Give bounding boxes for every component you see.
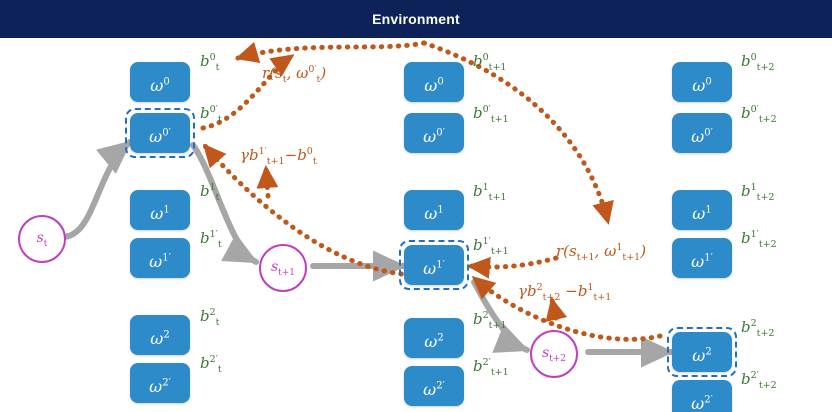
omega-box-t-1[interactable]: ω1 [130,190,190,230]
arrow-td-t-label-stub [266,168,268,196]
omega-box-t1-1[interactable]: ω1 [404,190,464,230]
b-label-t2-1prime: b1′t+2 [741,229,777,250]
b-label-t2-2prime: b2′t+2 [741,370,777,391]
state-circle-label: st+1 [271,259,295,278]
arrow-st-to-w0prime [63,142,130,237]
omega-box-t-0[interactable]: ω0 [130,62,190,102]
state-circle-label: st [37,230,48,249]
omega-box-label: ω1′ [691,252,713,271]
omega-box-label: ω0 [150,76,169,95]
formula-td-error-t: γb1′t+1−b0t [240,146,317,167]
state-circle-label: st+2 [542,345,566,364]
omega-box-t2-2[interactable]: ω2 [672,332,732,372]
b-label-t-1prime: b1′t [200,229,222,250]
b-label-t-0: b0t [200,52,219,73]
b-label-t-0prime: b0′t [200,104,222,125]
state-circle-t1[interactable]: st+1 [259,244,307,292]
b-label-t2-2: b2t+2 [741,318,774,339]
omega-box-t-2prime[interactable]: ω2′ [130,363,190,403]
environment-bar-label: Environment [0,0,832,38]
omega-box-label: ω2′ [423,380,445,399]
b-label-t1-2: b2t+1 [473,310,506,331]
b-label-t1-1: b1t+1 [473,182,506,203]
omega-box-label: ω0 [424,76,443,95]
omega-box-t2-1[interactable]: ω1 [672,190,732,230]
omega-box-label: ω0′ [149,127,171,146]
omega-box-label: ω1 [150,204,169,223]
omega-box-t2-1prime[interactable]: ω1′ [672,238,732,278]
omega-box-label: ω2′ [149,377,171,396]
omega-box-label: ω0′ [423,127,445,146]
b-label-t2-0: b0t+2 [741,52,774,73]
state-circle-t2[interactable]: st+2 [530,330,578,378]
b-label-t-2prime: b2′t [200,354,222,375]
omega-box-label: ω2 [692,346,711,365]
omega-box-label: ω2 [424,332,443,351]
arrow-env-to-left-branch [238,43,424,58]
omega-box-t2-0prime[interactable]: ω0′ [672,113,732,153]
omega-box-label: ω2′ [691,394,713,412]
omega-box-t1-0[interactable]: ω0 [404,62,464,102]
b-label-t1-1prime: b1′t+1 [473,236,509,257]
b-label-t1-0: b0t+1 [473,52,506,73]
omega-box-label: ω1′ [423,259,445,278]
b-label-t1-0prime: b0′t+1 [473,104,509,125]
b-label-t-2: b2t [200,307,219,328]
omega-box-t2-2prime[interactable]: ω2′ [672,380,732,412]
omega-box-t-2[interactable]: ω2 [130,315,190,355]
formula-reward-t: r(st, ω0′t) [262,64,326,85]
omega-box-t1-0prime[interactable]: ω0′ [404,113,464,153]
omega-box-label: ω1 [424,204,443,223]
b-label-t2-1: b1t+2 [741,182,774,203]
omega-box-t1-2prime[interactable]: ω2′ [404,366,464,406]
omega-box-t1-1prime[interactable]: ω1′ [404,245,464,285]
omega-box-label: ω1 [692,204,711,223]
diagram-canvas: Environment [0,0,832,412]
b-label-t1-2prime: b2′t+1 [473,357,509,378]
omega-box-t1-2[interactable]: ω2 [404,318,464,358]
omega-box-label: ω0′ [691,127,713,146]
omega-box-label: ω2 [150,329,169,348]
formula-td-error-t1: γb2t+2 −b1t+1 [518,282,611,303]
omega-box-t-0prime[interactable]: ω0′ [130,113,190,153]
omega-box-label: ω1′ [149,252,171,271]
arrow-reward-t1-to-w1prime [470,258,556,267]
omega-box-label: ω0 [692,76,711,95]
omega-box-t-1prime[interactable]: ω1′ [130,238,190,278]
b-label-t-1: b1t [200,182,219,203]
formula-reward-t1: r(st+1, ω1t+1) [556,242,646,263]
omega-box-t2-0[interactable]: ω0 [672,62,732,102]
b-label-t2-0prime: b0′t+2 [741,104,777,125]
state-circle-t[interactable]: st [18,215,66,263]
